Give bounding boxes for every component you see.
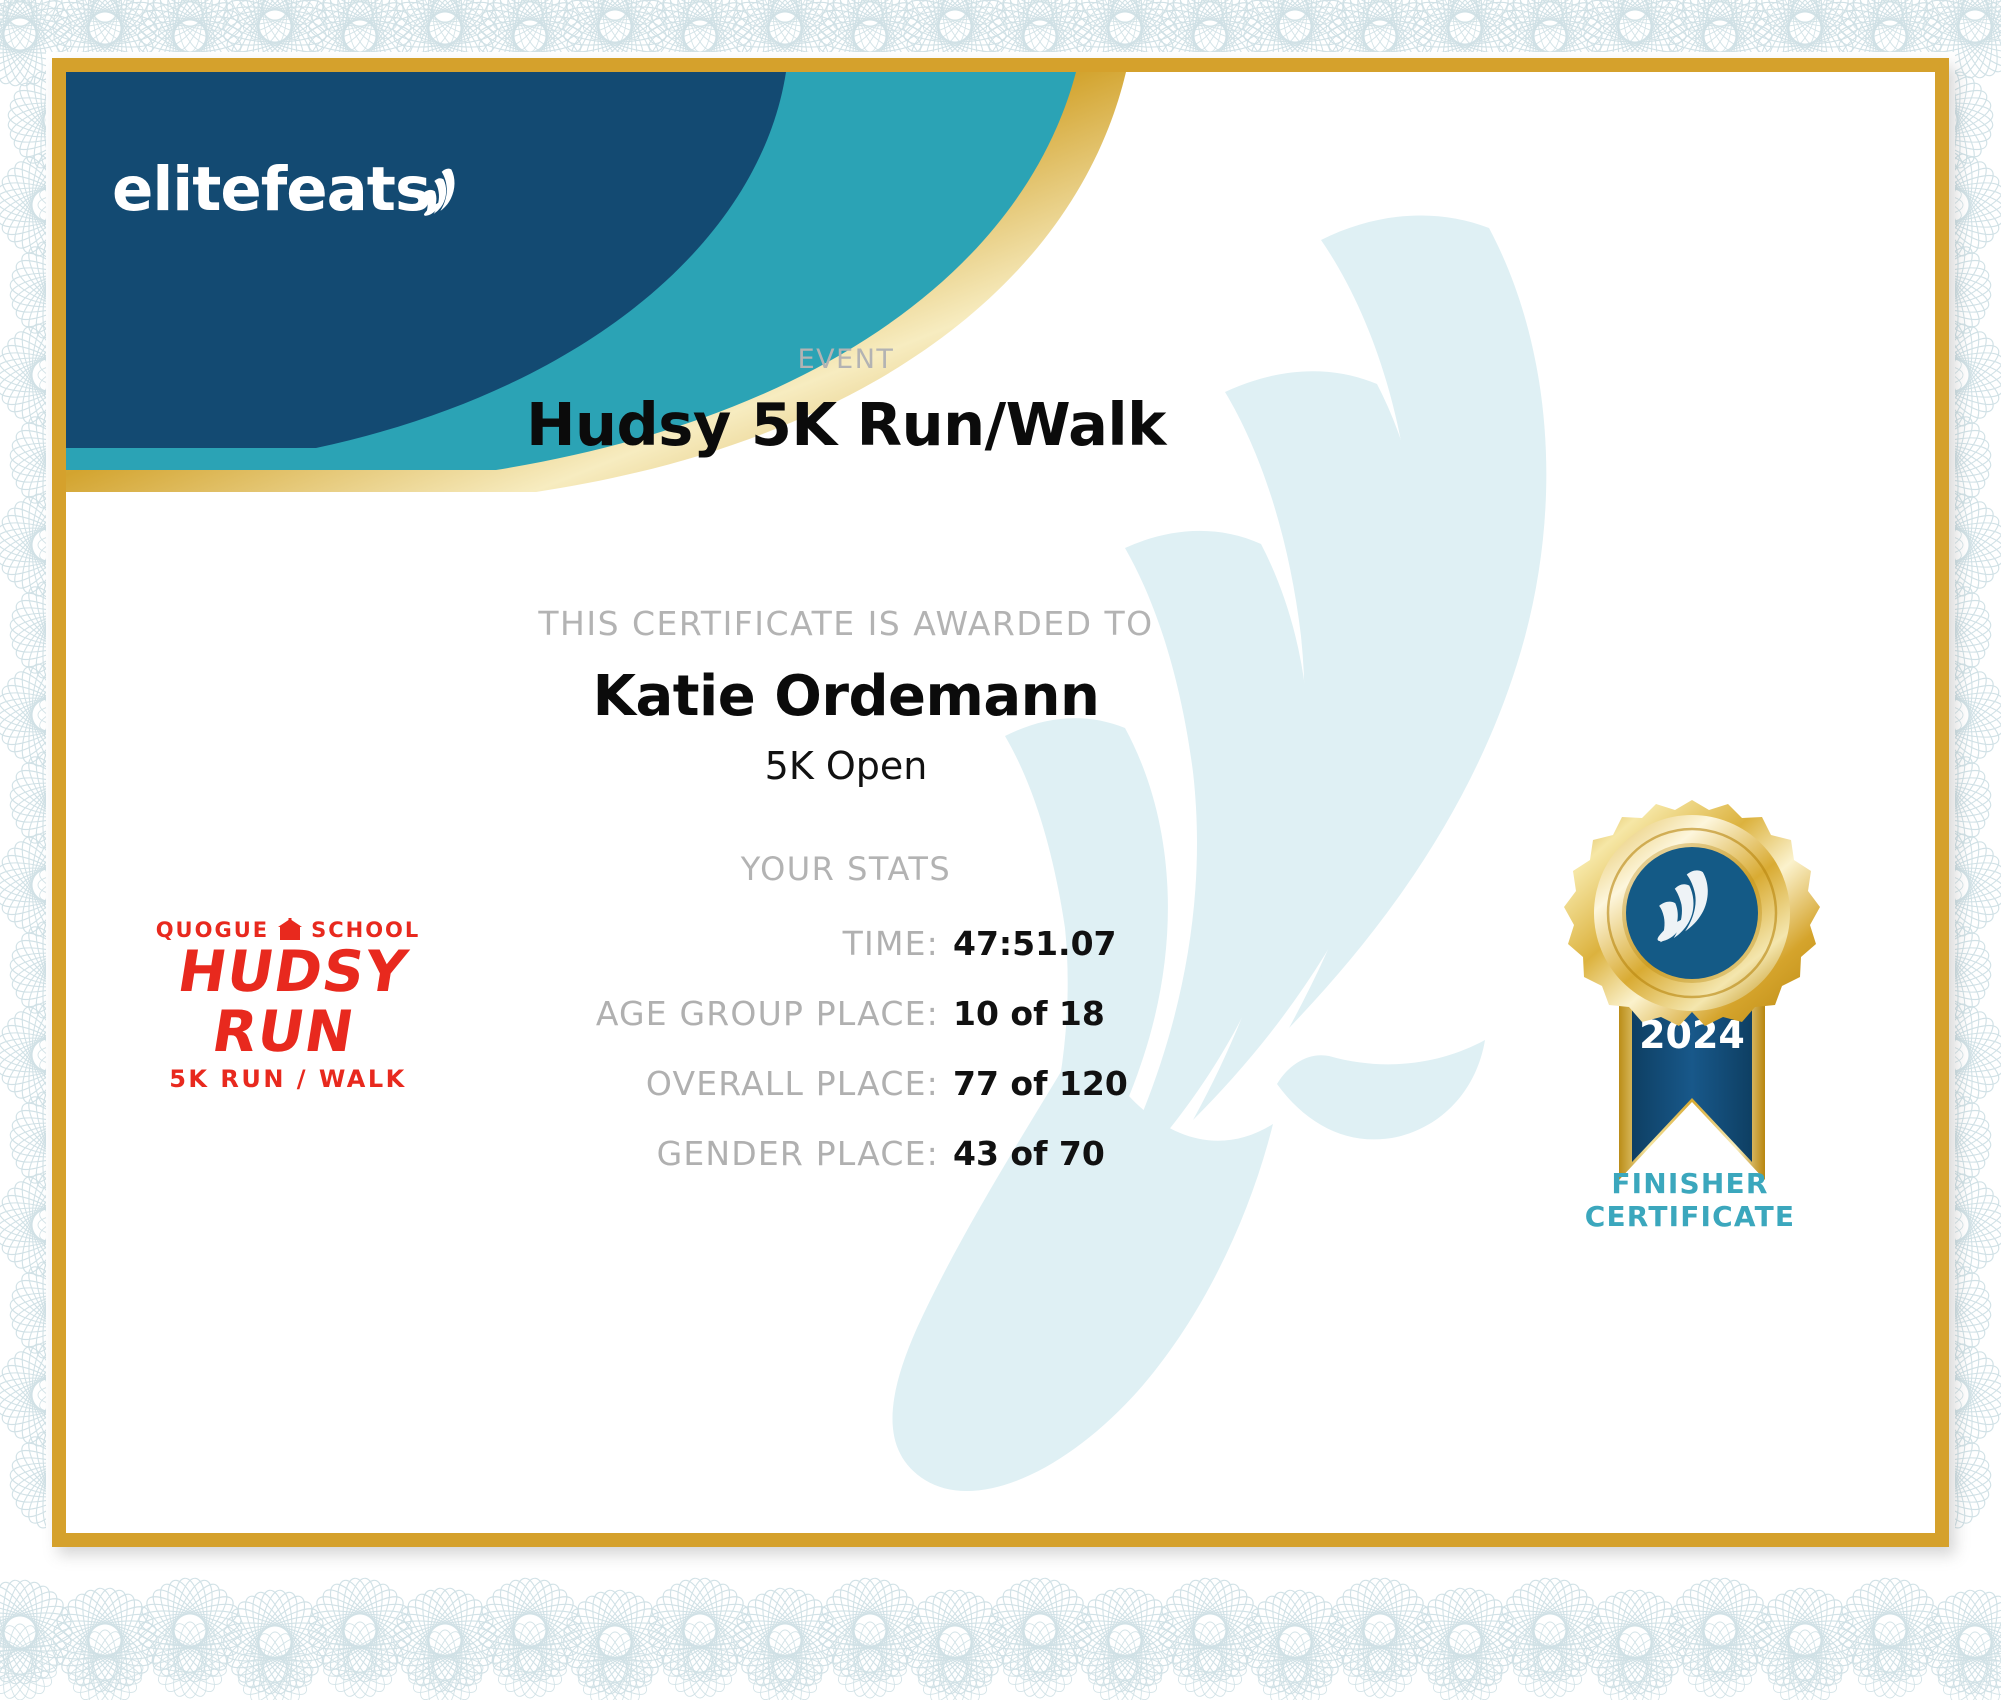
medal-year: 2024	[1639, 1013, 1745, 1057]
stat-value-age-group-place: 10 of 18	[953, 994, 1273, 1033]
hudsy-run-event-logo: QUOGUE SCHOOL HUDSY RUN 5K RUN / WALK	[138, 917, 438, 1057]
event-logo-sub: 5K RUN / WALK	[138, 1065, 438, 1093]
medal-rosette	[1564, 800, 1820, 1026]
awarded-to-label: THIS CERTIFICATE IS AWARDED TO	[66, 604, 1626, 643]
stat-row-gender-place: GENDER PLACE: 43 of 70	[66, 1134, 1626, 1192]
certificate-body: elitefeats EVENT Hudsy 5K Run/Walk THIS …	[66, 72, 1935, 1533]
certificate-page: elitefeats EVENT Hudsy 5K Run/Walk THIS …	[0, 0, 2001, 1700]
stat-value-gender-place: 43 of 70	[953, 1134, 1273, 1173]
stat-value-overall-place: 77 of 120	[953, 1064, 1273, 1103]
event-label: EVENT	[66, 344, 1626, 375]
stat-label-gender-place: GENDER PLACE:	[419, 1134, 953, 1173]
recipient-name: Katie Ordemann	[66, 664, 1626, 729]
recipient-division: 5K Open	[66, 744, 1626, 788]
certificate-gold-frame: elitefeats EVENT Hudsy 5K Run/Walk THIS …	[52, 58, 1949, 1547]
your-stats-label: YOUR STATS	[66, 850, 1626, 888]
stat-label-age-group-place: AGE GROUP PLACE:	[419, 994, 953, 1033]
stat-label-overall-place: OVERALL PLACE:	[419, 1064, 953, 1103]
finisher-certificate-caption: FINISHER CERTIFICATE	[1515, 1167, 1865, 1233]
event-logo-main: HUDSY RUN	[129, 943, 448, 1063]
finisher-caption-line2: CERTIFICATE	[1515, 1200, 1865, 1233]
certificate-content: EVENT Hudsy 5K Run/Walk THIS CERTIFICATE…	[66, 72, 1935, 1533]
stat-label-time: TIME:	[419, 924, 953, 963]
finisher-caption-line1: FINISHER	[1515, 1167, 1865, 1200]
stat-value-time: 47:51.07	[953, 924, 1273, 963]
event-title: Hudsy 5K Run/Walk	[66, 390, 1626, 459]
